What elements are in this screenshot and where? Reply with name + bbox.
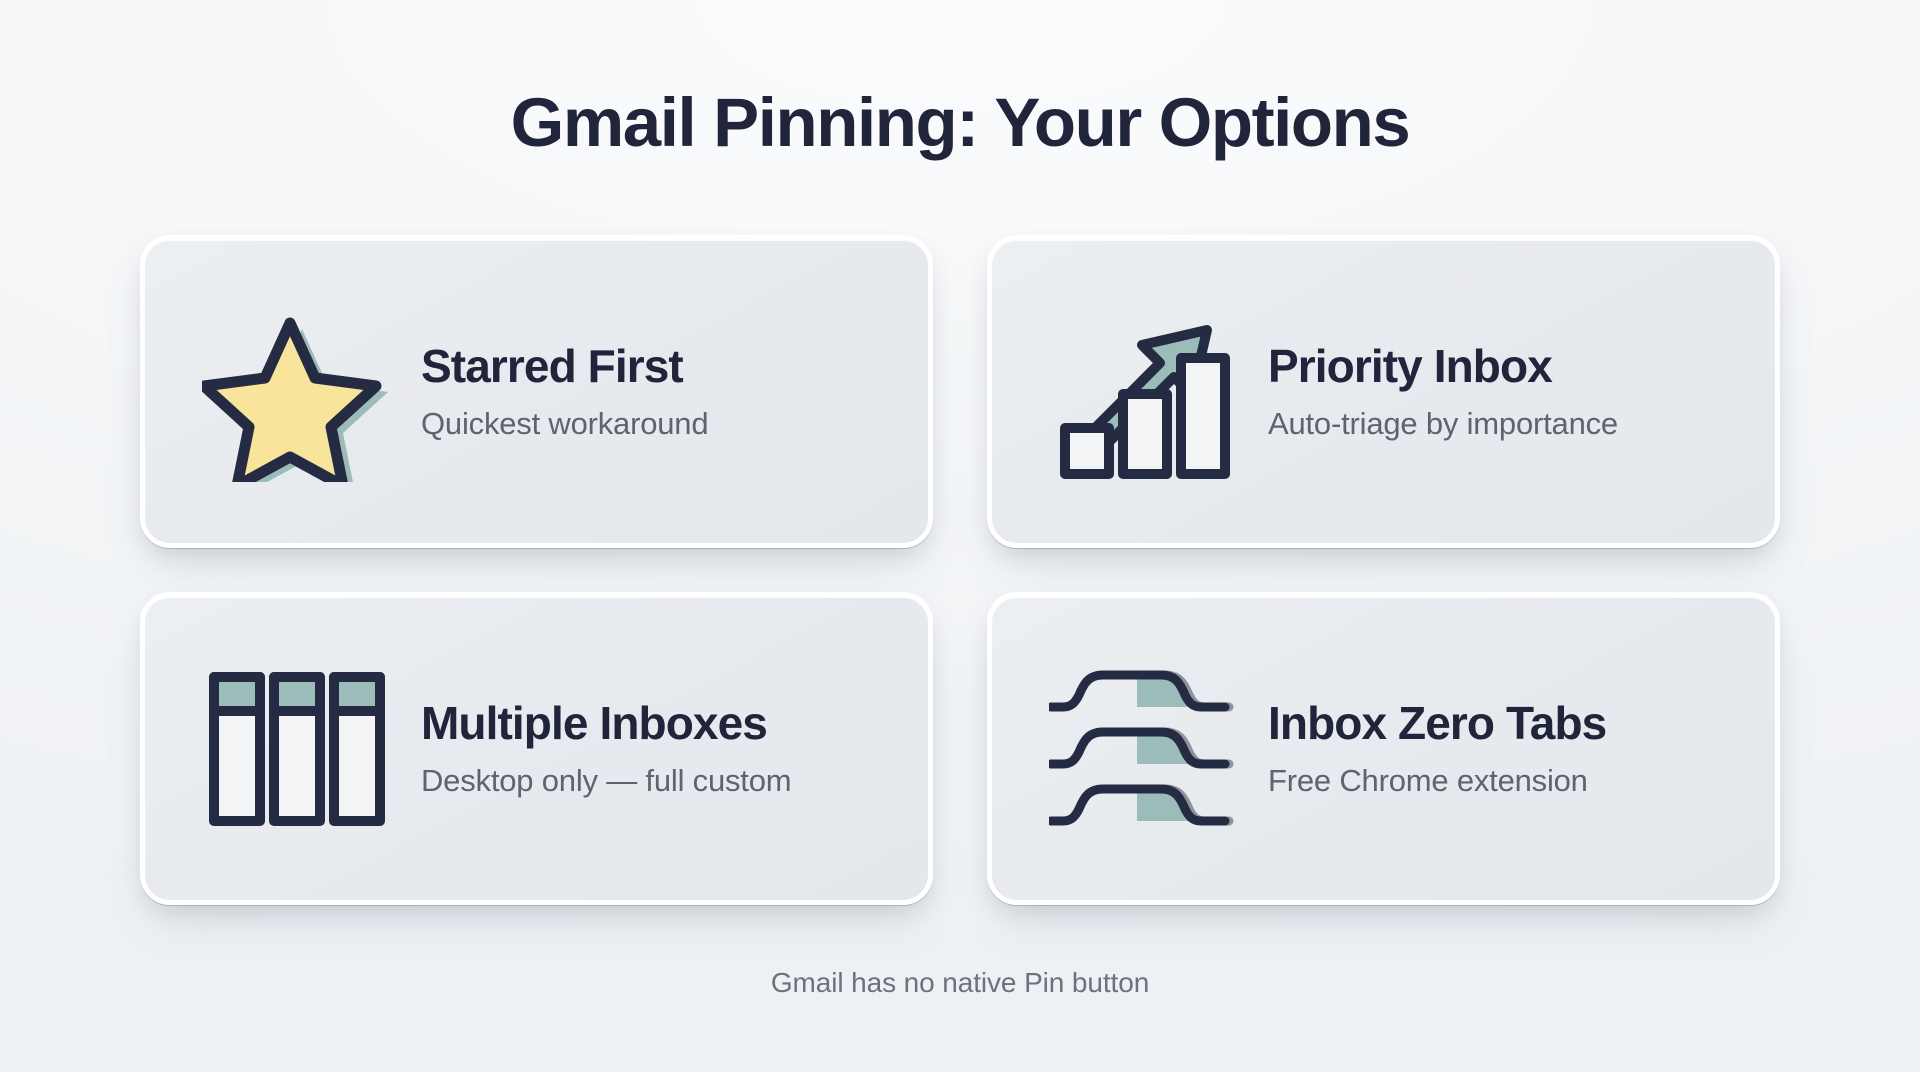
options-grid: Starred First Quickest workaround Priori… [140,235,1780,905]
footer-note: Gmail has no native Pin button [771,967,1149,999]
option-card-subtitle: Quickest workaround [421,406,708,442]
multiple-columns-icon [197,649,397,849]
option-card-subtitle: Auto-triage by importance [1268,406,1618,442]
option-card-multiple-inboxes[interactable]: Multiple Inboxes Desktop only — full cus… [140,592,933,905]
option-card-priority-inbox[interactable]: Priority Inbox Auto-triage by importance [987,235,1780,548]
option-card-subtitle: Free Chrome extension [1268,763,1606,799]
option-card-subtitle: Desktop only — full custom [421,763,791,799]
option-card-text: Multiple Inboxes Desktop only — full cus… [421,699,791,798]
browser-tabs-icon [1044,649,1244,849]
option-card-title: Multiple Inboxes [421,699,791,749]
bar-chart-arrow-icon [1044,292,1244,492]
option-card-title: Inbox Zero Tabs [1268,699,1606,749]
option-card-inbox-zero-tabs[interactable]: Inbox Zero Tabs Free Chrome extension [987,592,1780,905]
option-card-title: Starred First [421,342,708,392]
star-icon [197,292,397,492]
option-card-starred-first[interactable]: Starred First Quickest workaround [140,235,933,548]
option-card-text: Starred First Quickest workaround [421,342,708,441]
option-card-text: Inbox Zero Tabs Free Chrome extension [1268,699,1606,798]
option-card-title: Priority Inbox [1268,342,1618,392]
option-card-text: Priority Inbox Auto-triage by importance [1268,342,1618,441]
page-title: Gmail Pinning: Your Options [511,88,1410,157]
infographic-page: Gmail Pinning: Your Options Starred Firs… [0,0,1920,1072]
